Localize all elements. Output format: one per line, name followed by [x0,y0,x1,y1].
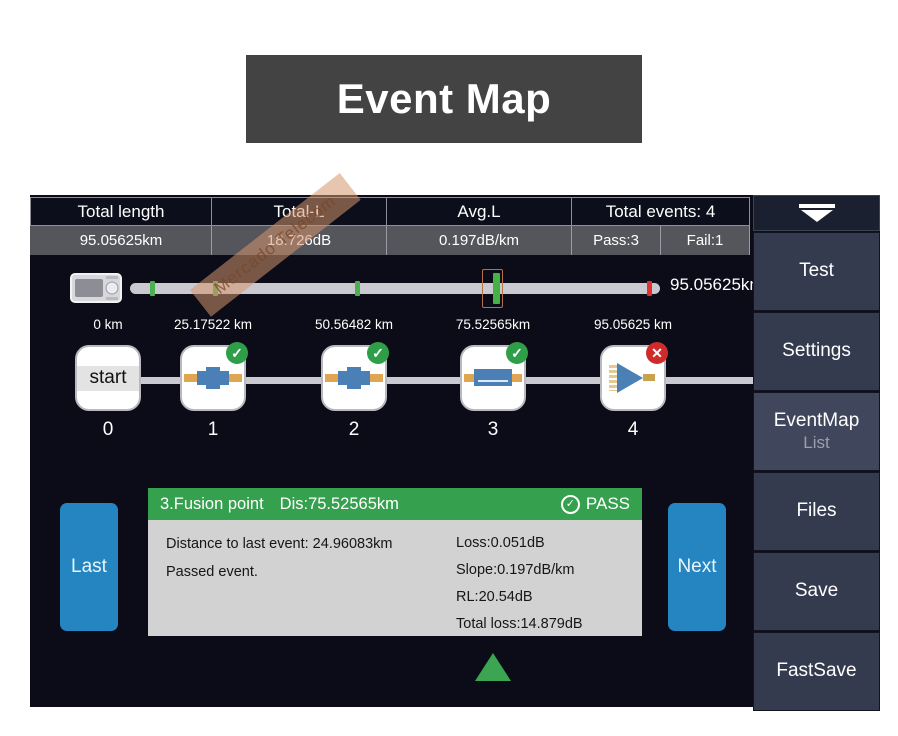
summary-value-total-l: 18.726dB [212,226,387,255]
page-title: Event Map [337,75,552,123]
event-detail-title: 3.Fusion point [160,495,264,514]
event-node-4-number: 4 [628,419,639,441]
summary-value-pass-count: Pass:3 [572,226,661,255]
event-node-0-number: 0 [103,419,114,441]
event-distance-labels: 0 km 25.17522 km 50.56482 km 75.52565km … [30,317,753,339]
sidebar-item-label: FastSave [776,661,856,682]
summary-header-row: Total length Total-L Avg.L Total events:… [30,197,750,226]
connector-icon [325,363,383,393]
detail-total-loss: Total loss:14.879dB [456,611,642,638]
status-badge-label: PASS [586,494,630,514]
sidebar-item-eventmap[interactable]: EventMap List [753,392,880,471]
event-node-3-number: 3 [488,419,499,441]
event-distance-0: 0 km [93,317,122,332]
event-map-main-area: Total length Total-L Avg.L Total events:… [30,195,753,707]
sidebar-collapse-button[interactable] [753,195,880,231]
sidebar-item-label: Settings [782,341,851,362]
summary-value-row: 95.05625km 18.726dB 0.197dB/km Pass:3 Fa… [30,226,750,255]
last-button[interactable]: Last [60,503,118,631]
start-label: start [90,367,127,389]
sidebar-item-files[interactable]: Files [753,472,880,551]
distance-bar: 95.05625km [30,261,753,313]
sidebar-item-sublabel: List [803,434,829,453]
event-detail-right-column: Loss:0.051dB Slope:0.197dB/km RL:20.54dB… [448,530,642,636]
sidebar-item-label: EventMap [774,411,860,432]
event-detail-body: Distance to last event: 24.96083km Passe… [148,520,642,636]
event-distance-2: 50.56482 km [315,317,393,332]
fail-badge-icon: ✕ [646,342,668,364]
event-detail-left-column: Distance to last event: 24.96083km Passe… [148,530,448,636]
summary-header-total-l: Total-L [212,197,387,226]
summary-header-avg-l: Avg.L [387,197,572,226]
summary-value-fail-count: Fail:1 [661,226,750,255]
detail-loss: Loss:0.051dB [456,530,642,557]
sidebar-item-settings[interactable]: Settings [753,312,880,391]
check-circle-icon: ✓ [561,495,580,514]
event-detail-distance: Dis:75.52565km [280,495,561,514]
track-tick-2 [213,281,218,296]
summary-value-total-length: 95.05625km [30,226,212,255]
sidebar-item-label: Files [796,501,836,522]
event-node-1-number: 1 [208,419,219,441]
track-tick-3 [355,281,360,296]
start-icon: start [77,366,139,391]
sidebar-item-fastsave[interactable]: FastSave [753,632,880,711]
sidebar: Test Settings EventMap List Files Save F… [753,195,880,707]
sidebar-item-test[interactable]: Test [753,232,880,311]
connector-icon [184,363,242,393]
chevron-down-icon [799,204,835,222]
summary-value-avg-l: 0.197dB/km [387,226,572,255]
detail-result-text: Passed event. [166,558,448,586]
event-node-2[interactable]: ✓ [321,345,387,411]
detail-rl: RL:20.54dB [456,584,642,611]
event-distance-3: 75.52565km [456,317,530,332]
event-distance-1: 25.17522 km [174,317,252,332]
detail-distance-to-last-event: Distance to last event: 24.96083km [166,530,448,558]
event-node-3[interactable]: ✓ [460,345,526,411]
event-node-0[interactable]: start [75,345,141,411]
summary-header-total-events: Total events: 4 [572,197,750,226]
splitter-icon [609,361,657,395]
pass-badge-icon: ✓ [226,342,248,364]
status-badge: ✓ PASS [561,494,630,514]
detail-slope: Slope:0.197dB/km [456,557,642,584]
next-button[interactable]: Next [668,503,726,631]
summary-header-total-length: Total length [30,197,212,226]
selected-event-pointer-icon [475,653,511,681]
track-tick-1 [150,281,155,296]
event-node-2-number: 2 [349,419,360,441]
event-node-4[interactable]: ✕ [600,345,666,411]
device-screen: Total length Total-L Avg.L Total events:… [30,195,880,707]
event-distance-4: 95.05625 km [594,317,672,332]
track-end-label: 95.05625km [670,275,764,295]
sidebar-item-label: Test [799,261,834,282]
sidebar-item-save[interactable]: Save [753,552,880,631]
pass-badge-icon: ✓ [367,342,389,364]
event-detail-panel: 3.Fusion point Dis:75.52565km ✓ PASS Dis… [148,488,642,636]
fusion-point-icon [464,365,522,391]
otdr-device-icon [70,273,122,303]
track-tick-4-selected [493,273,500,304]
track-tick-5-fail [647,281,652,296]
pass-badge-icon: ✓ [506,342,528,364]
page-title-banner: Event Map [246,55,642,143]
event-node-row: start 0 ✓ 1 ✓ 2 [30,345,753,445]
event-detail-header: 3.Fusion point Dis:75.52565km ✓ PASS [148,488,642,520]
distance-track[interactable] [130,283,660,294]
summary-table: Total length Total-L Avg.L Total events:… [30,197,750,255]
sidebar-item-label: Save [795,581,838,602]
event-node-1[interactable]: ✓ [180,345,246,411]
